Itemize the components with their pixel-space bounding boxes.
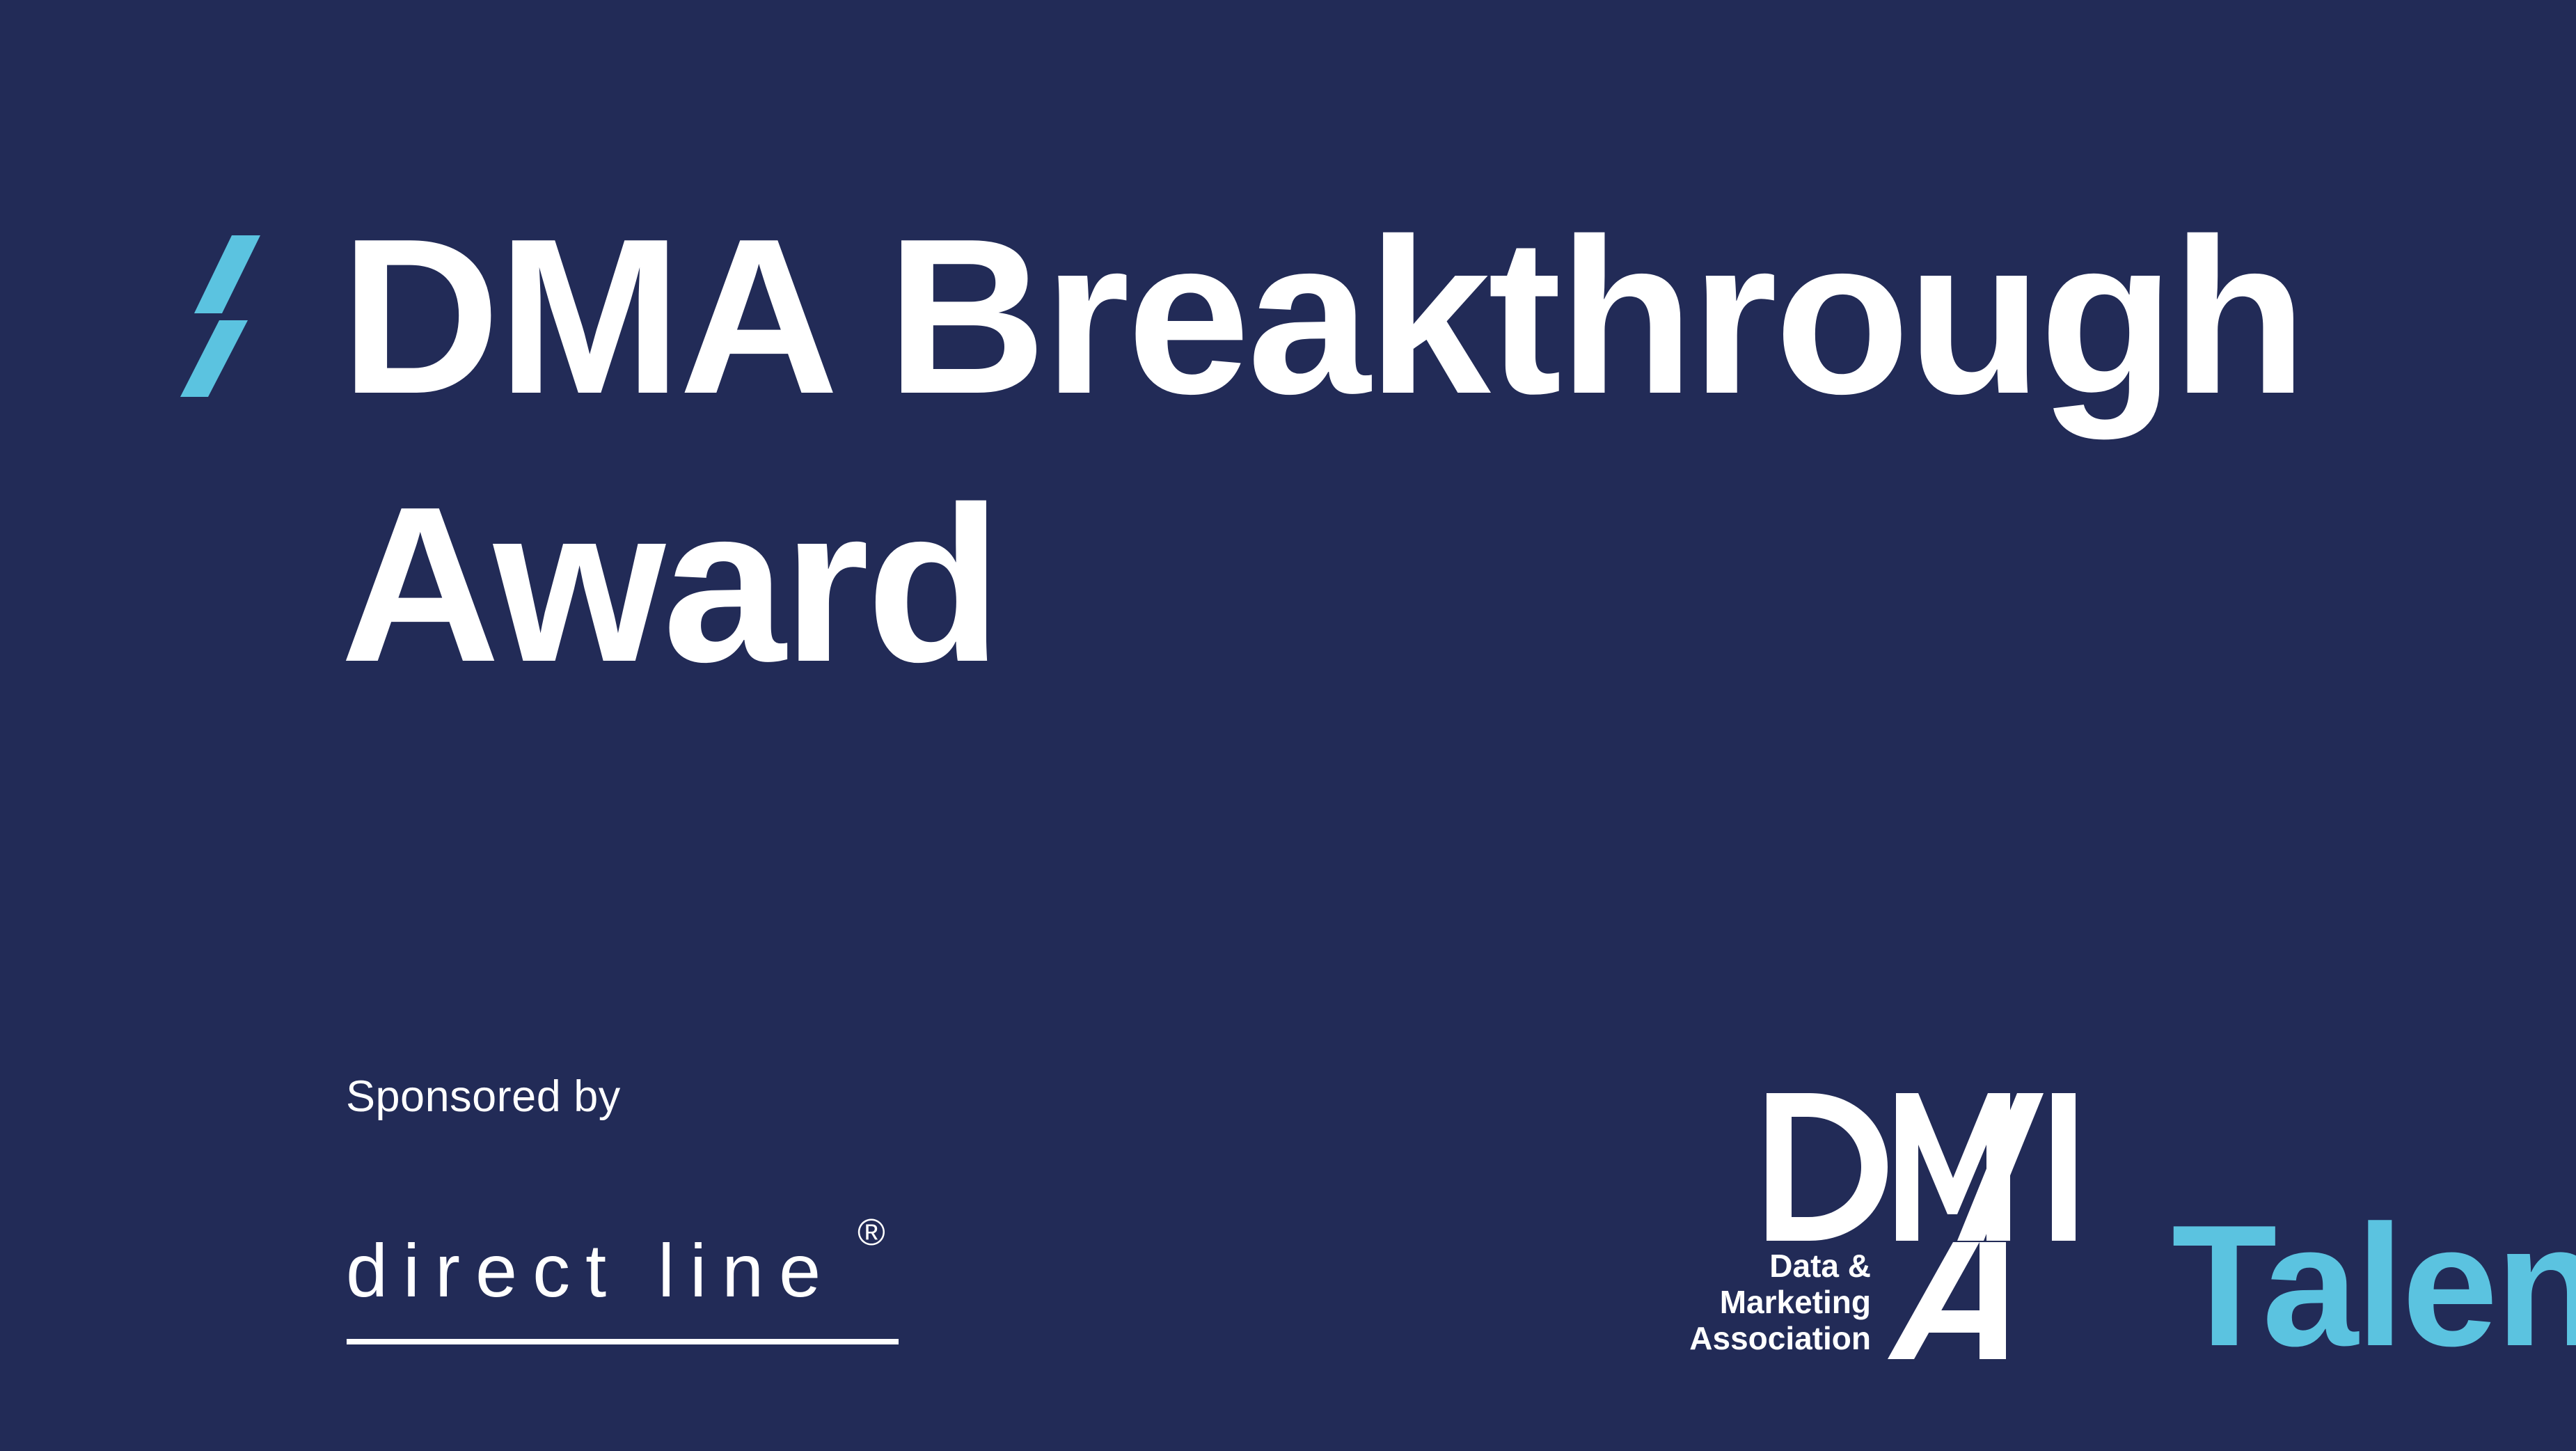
svg-text:Data &: Data & [1769,1248,1871,1284]
talent-wordmark: Talent [2172,1199,2576,1372]
dma-letter-a [1888,1242,2006,1359]
page-title: DMA Breakthrough Award [340,182,2359,719]
direct-line-wordmark: direct line [346,1222,836,1319]
sponsored-by-label: Sponsored by [346,1072,1042,1121]
direct-line-wordmark-row: direct line ® [346,1222,910,1319]
direct-line-logo: direct line ® [346,1222,910,1319]
dma-letter-d [1767,1093,1888,1241]
title-line-2: Award [340,450,2359,719]
registered-trademark-icon: ® [858,1214,885,1251]
svg-text:Association: Association [1689,1320,1871,1356]
sponsor-block: Sponsored by direct line ® [346,1072,1042,1121]
title-line-1: DMA Breakthrough [340,182,2359,450]
forward-slash-accent-icon [177,223,275,397]
dma-strapline: Data & Marketing Association [1689,1248,1871,1356]
dma-talent-logo: Data & Marketing Association Talent [1684,1081,2478,1373]
svg-text:Marketing: Marketing [1720,1284,1871,1320]
dma-monogram-icon: Data & Marketing Association [1684,1081,2213,1373]
slide-canvas: DMA Breakthrough Award Sponsored by dire… [0,0,2576,1451]
title-block: DMA Breakthrough Award [0,0,2576,696]
direct-line-underline-rule [347,1339,899,1344]
